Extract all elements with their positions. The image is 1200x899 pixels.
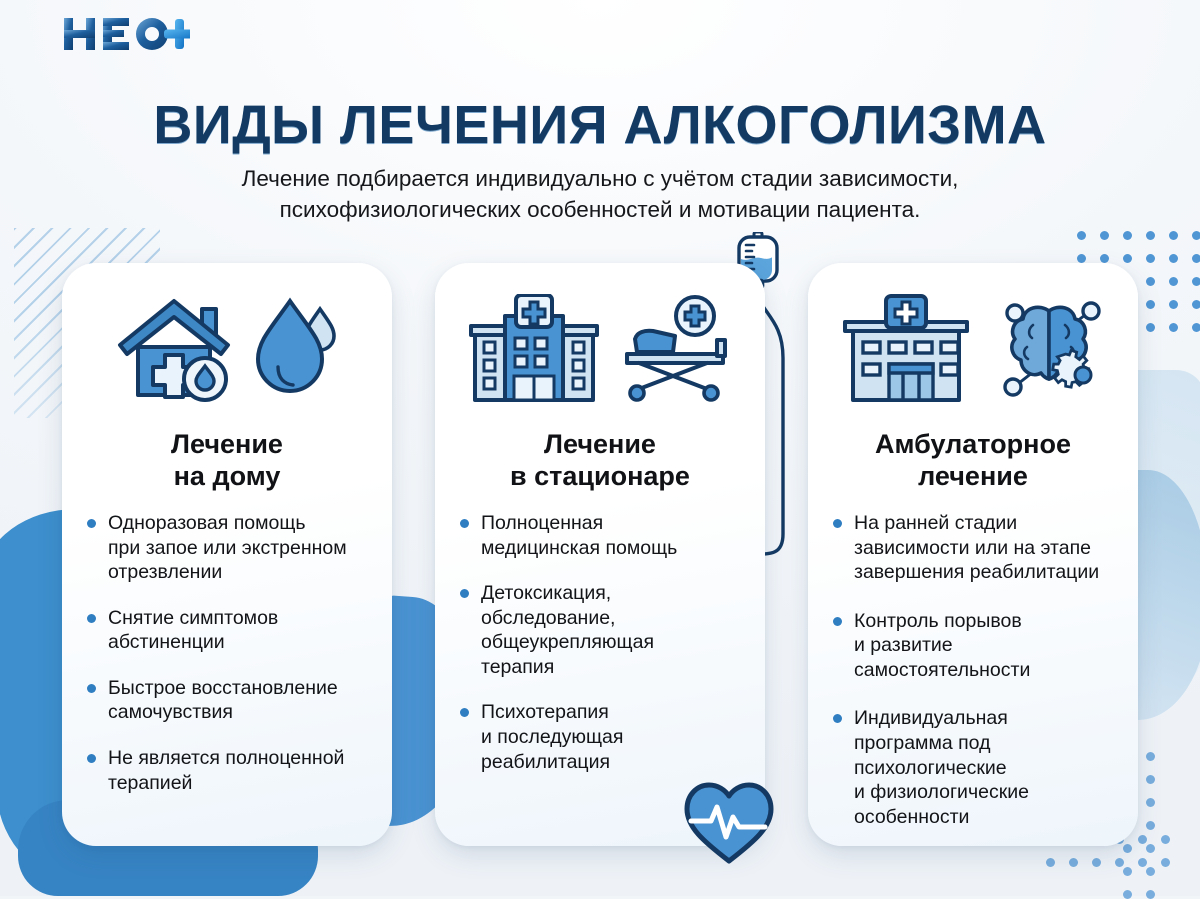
card-3-title: Амбулаторное лечение — [822, 428, 1124, 493]
decor-dot — [1123, 890, 1132, 899]
infographic-canvas: ВИДЫ ЛЕЧЕНИЯ АЛКОГОЛИЗМА Лечение подбира… — [0, 0, 1200, 896]
card-2-title: Лечение в стационаре — [449, 428, 751, 493]
list-item: Детоксикация, обследование, общеукрепляю… — [457, 581, 751, 679]
decor-dot — [1100, 231, 1109, 240]
decor-dot — [1123, 254, 1132, 263]
list-item: Снятие симптомов абстиненции — [84, 606, 378, 655]
page-subtitle: Лечение подбирается индивидуально с учёт… — [120, 163, 1080, 227]
card-3-bullets: На ранней стадии зависимости или на этап… — [830, 511, 1124, 853]
hospital-bed-icon — [623, 294, 733, 409]
decor-dot — [1146, 890, 1155, 899]
hospital-building-icon — [467, 294, 601, 409]
decor-dot — [1146, 867, 1155, 876]
neo-plus-logo — [64, 14, 190, 54]
card-2-bullets: Полноценная медицинская помощь Детоксика… — [457, 511, 751, 795]
water-drop-icon — [254, 295, 340, 408]
list-item: Полноценная медицинская помощь — [457, 511, 751, 560]
brain-gear-icon — [993, 295, 1105, 408]
card-1-title: Лечение на дому — [76, 428, 378, 493]
card-2-icons — [435, 287, 765, 415]
decor-dot — [1123, 867, 1132, 876]
list-item: Индивидуальная программа под психологиче… — [830, 706, 1124, 829]
list-item: Одноразовая помощь при запое или экстрен… — [84, 511, 378, 585]
list-item: Быстрое восстановление самочувствия — [84, 676, 378, 725]
clinic-building-icon — [841, 294, 971, 409]
decor-dot — [1169, 254, 1178, 263]
card-3-icons — [808, 287, 1138, 415]
card-home-treatment[interactable]: Лечение на дому Одноразовая помощь при з… — [62, 263, 392, 846]
decor-dot — [1100, 254, 1109, 263]
home-medical-icon — [114, 293, 232, 410]
list-item: На ранней стадии зависимости или на этап… — [830, 511, 1124, 585]
list-item: Контроль порывов и развитие самостоятель… — [830, 609, 1124, 683]
decor-dot — [1192, 231, 1200, 240]
list-item: Психотерапия и последующая реабилитация — [457, 700, 751, 774]
card-1-bullets: Одноразовая помощь при запое или экстрен… — [84, 511, 378, 816]
card-outpatient-treatment[interactable]: Амбулаторное лечение На ранней стадии за… — [808, 263, 1138, 846]
decor-dot — [1077, 231, 1086, 240]
list-item: Не является полноценной терапией — [84, 746, 378, 795]
card-1-icons — [62, 287, 392, 415]
decor-dot — [1146, 254, 1155, 263]
card-inpatient-treatment[interactable]: Лечение в стационаре Полноценная медицин… — [435, 263, 765, 846]
page-title: ВИДЫ ЛЕЧЕНИЯ АЛКОГОЛИЗМА — [0, 94, 1200, 156]
heart-pulse-icon — [683, 781, 775, 870]
decor-dot — [1169, 231, 1178, 240]
treatment-cards: Лечение на дому Одноразовая помощь при з… — [0, 263, 1200, 863]
decor-dot — [1077, 254, 1086, 263]
decor-dot — [1192, 254, 1200, 263]
decor-dot — [1123, 231, 1132, 240]
decor-dot — [1146, 231, 1155, 240]
